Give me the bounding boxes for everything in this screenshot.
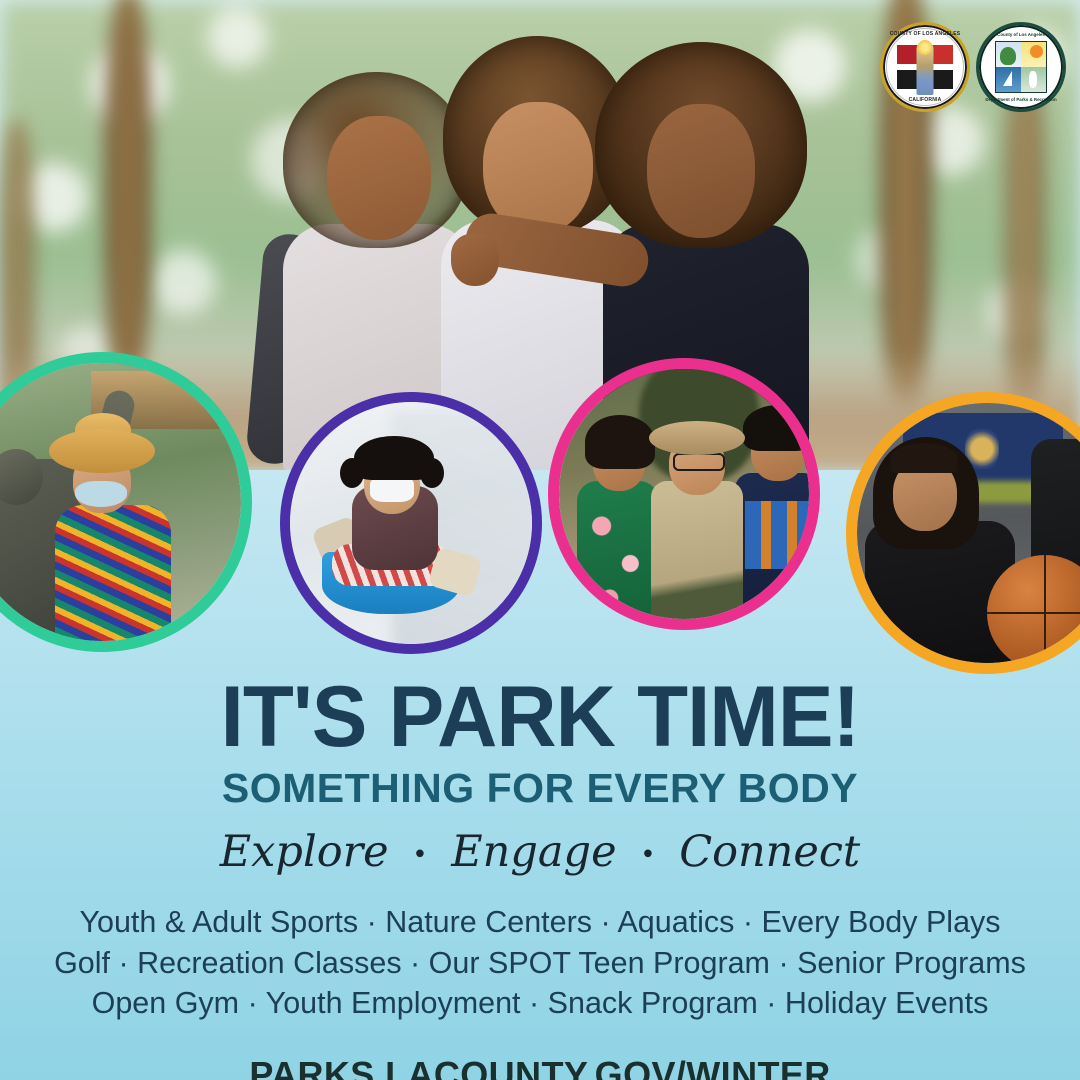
circle-photo-ranger	[548, 358, 820, 630]
program-line: Golf · Recreation Classes · Our SPOT Tee…	[0, 943, 1080, 984]
eyeglasses	[673, 453, 725, 471]
parks-recreation-seal: County of Los Angeles Department of Park…	[976, 22, 1066, 112]
seal-sun-quadrant	[1021, 42, 1046, 67]
page-title: IT'S PARK TIME!	[16, 674, 1064, 760]
tagline-separator: •	[402, 840, 437, 870]
agency-seals: COUNTY OF LOS ANGELES CALIFORNIA County …	[880, 22, 1066, 112]
child-hair	[354, 436, 434, 480]
circle-photo-image	[290, 402, 532, 644]
ranger-hat	[649, 421, 745, 455]
seal-halo	[918, 40, 933, 55]
seal-tree-quadrant	[996, 42, 1021, 67]
website-url[interactable]: PARKS.LACOUNTY.GOV/WINTER	[0, 1054, 1080, 1080]
la-county-seal: COUNTY OF LOS ANGELES CALIFORNIA	[880, 22, 970, 112]
seal-skier-quadrant	[1021, 67, 1046, 92]
seal-quadrant	[931, 70, 953, 89]
tagline: Explore • Engage • Connect	[0, 831, 1080, 874]
poster-copy: IT'S PARK TIME! SOMETHING FOR EVERY BODY…	[0, 674, 1080, 1080]
seal-bottom-text: Department of Parks & Recreation	[979, 97, 1063, 102]
face-mask	[75, 481, 127, 507]
circle-photo-image	[857, 403, 1080, 663]
ranger-uniform	[651, 481, 743, 619]
senior-shirt	[55, 505, 171, 641]
seal-quadrant	[931, 45, 953, 64]
tagline-separator: •	[630, 840, 665, 870]
girl-floral-dress	[577, 481, 659, 619]
program-line: Open Gym · Youth Employment · Snack Prog…	[0, 983, 1080, 1024]
straw-hat-brim	[49, 429, 155, 473]
seal-quadrants	[995, 41, 1047, 93]
boy-graphic-tshirt	[735, 473, 809, 619]
tagline-word-engage: Engage	[451, 827, 616, 877]
boy-hair	[743, 405, 809, 451]
tagline-word-explore: Explore	[220, 827, 389, 877]
seal-bottom-text: CALIFORNIA	[883, 97, 967, 103]
seal-top-text: County of Los Angeles	[979, 32, 1063, 37]
program-list: Youth & Adult Sports · Nature Centers · …	[0, 902, 1080, 1024]
girl-hair	[585, 415, 655, 469]
program-line: Youth & Adult Sports · Nature Centers · …	[0, 902, 1080, 943]
circle-photo-senior	[0, 352, 252, 652]
seal-top-text: COUNTY OF LOS ANGELES	[883, 31, 967, 37]
page-subtitle: SOMETHING FOR EVERY BODY	[0, 768, 1080, 809]
circle-photo-image	[0, 363, 241, 641]
park-time-promo-poster: COUNTY OF LOS ANGELES CALIFORNIA County …	[0, 0, 1080, 1080]
girl-hair-front	[891, 443, 957, 473]
circle-photo-image	[559, 369, 809, 619]
tagline-word-connect: Connect	[679, 827, 860, 877]
seal-sailboat-quadrant	[996, 67, 1021, 92]
circle-photo-sledding	[280, 392, 542, 654]
circle-photo-basketball	[846, 392, 1080, 674]
